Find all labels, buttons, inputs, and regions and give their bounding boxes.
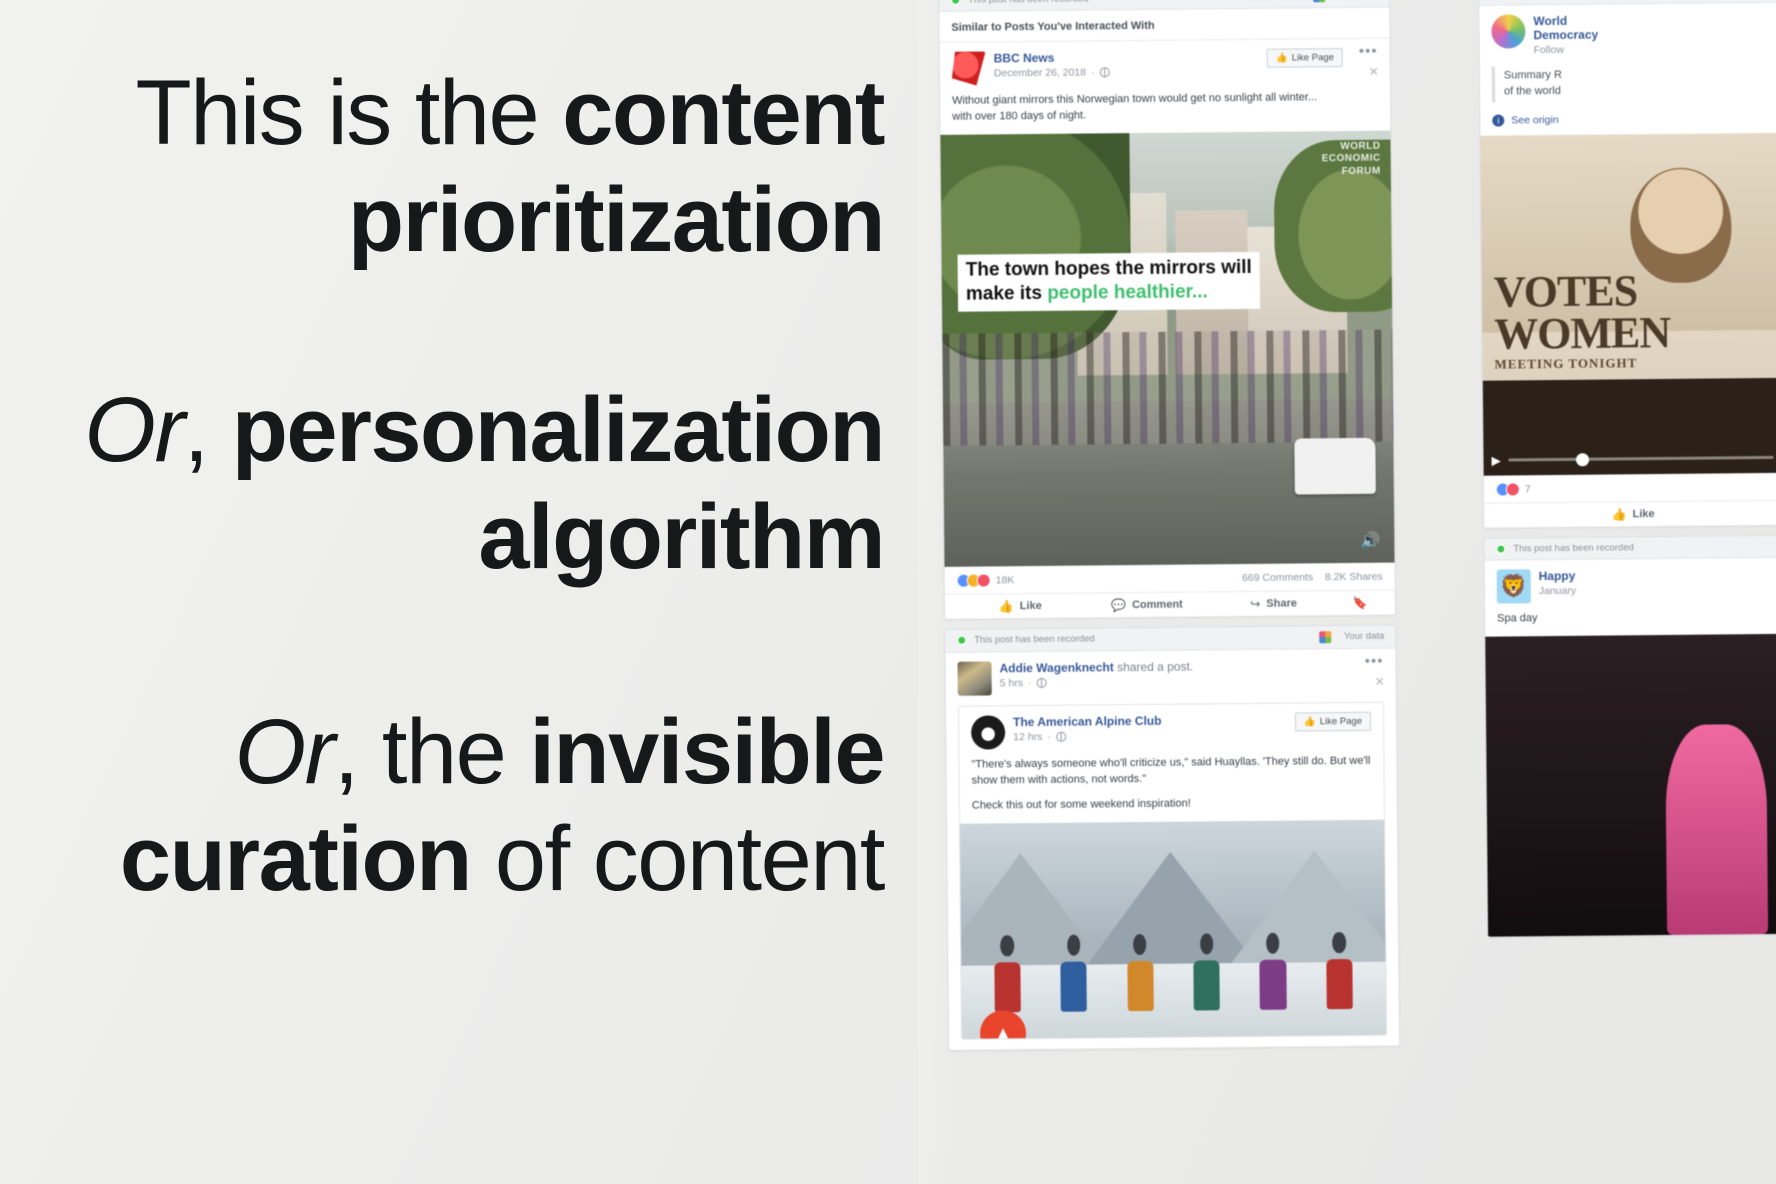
sharer-name[interactable]: Addie Wagenknecht shared a post. [999, 658, 1348, 675]
quoted-post-header: The American Alpine Club 12 hrs · 👍 Like… [959, 703, 1383, 756]
slide-canvas: This is the content prioritization Or, p… [0, 0, 1776, 1184]
share-arrow-icon: ↪ [1250, 597, 1260, 611]
quoted-post-timestamp[interactable]: 12 hrs [1013, 731, 1042, 743]
speech-bubble-icon: 💬 [1111, 598, 1126, 612]
spa-photo [1485, 634, 1776, 937]
your-data-label[interactable]: Your data [1338, 0, 1378, 2]
slide-line-1: This is the content prioritization [40, 60, 884, 273]
post-meta-happy: January [1539, 583, 1771, 597]
quoted-post-meta: 12 hrs · [1013, 728, 1287, 743]
globe-icon [1036, 678, 1046, 688]
recorded-banner-label-happy: This post has been recorded [1513, 542, 1634, 554]
feed-section-header: Similar to Posts You've Interacted With [939, 8, 1389, 43]
page-avatar-happy[interactable]: 🦁 [1497, 569, 1531, 603]
video-caption-line-2-plain: make its [966, 283, 1048, 305]
close-x-icon[interactable]: ✕ [1369, 65, 1379, 79]
like-button-label-world: Like [1632, 508, 1654, 520]
climber-4 [1186, 930, 1228, 1011]
share-button-bbc[interactable]: ↪ Share [1210, 596, 1337, 611]
post-header-happy: 🦁 Happy January [1485, 558, 1776, 610]
green-check-shield-icon [956, 635, 967, 646]
thumbs-up-icon: 👍 [999, 599, 1014, 613]
feed-side-column: This post has been recorded World Democr… [1478, 0, 1776, 947]
climbers-group [986, 906, 1360, 1013]
page-name-world-line-2[interactable]: Democracy [1533, 26, 1765, 42]
reaction-summary-bbc[interactable]: 18K [957, 573, 1015, 588]
reaction-count-world: 7 [1525, 483, 1531, 495]
post-body-bbc: Without giant mirrors this Norwegian tow… [940, 88, 1390, 135]
quote-line-3: Check this out for some weekend inspirat… [972, 795, 1372, 815]
video-frame-street-scene: WORLD ECONOMIC FORUM The town hopes the … [940, 130, 1394, 566]
post-author-block-shared: Addie Wagenknecht shared a post. 5 hrs · [999, 658, 1348, 689]
post-summary-world: Summary R of the world [1492, 64, 1766, 103]
video-controls[interactable]: ▶ [1491, 451, 1773, 468]
page-avatar-world-democracy[interactable] [1491, 14, 1525, 48]
quoted-author-block: The American Alpine Club 12 hrs · [1013, 712, 1287, 743]
page-name-bbc[interactable]: BBC News [994, 49, 1259, 66]
follow-label[interactable]: Follow [1534, 42, 1766, 56]
post-timestamp-bbc[interactable]: December 26, 2018 [994, 67, 1086, 80]
slide-line-2-light: , [184, 379, 232, 481]
video-car [1294, 437, 1376, 494]
your-data-label-2[interactable]: Your data [1344, 631, 1384, 642]
play-icon[interactable]: ▶ [1491, 453, 1500, 467]
comment-button-label: Comment [1132, 598, 1183, 610]
reaction-count-bbc: 18K [996, 574, 1015, 586]
see-original-label: See origin [1511, 114, 1558, 126]
slide-line-3: Or, the invisible curation of content [40, 699, 884, 912]
poster-subject: WOMEN [1494, 311, 1769, 355]
like-button-world[interactable]: 👍 Like [1496, 506, 1770, 523]
recorded-banner-label: This post has been recorded [968, 0, 1089, 5]
save-button-bbc[interactable]: 🔖 [1337, 596, 1383, 610]
slide-text-block: This is the content prioritization Or, p… [0, 0, 930, 1184]
post-actions-bbc: 👍 Like 💬 Comment ↪ Share 🔖 [945, 590, 1395, 618]
user-avatar-addie[interactable] [957, 661, 991, 695]
thumbs-up-icon: 👍 [1276, 53, 1288, 64]
feed-main-column: This post has been recorded Your data Si… [938, 0, 1400, 1060]
kebab-menu-icon[interactable]: ••• [1365, 658, 1384, 666]
thumbs-up-icon: 👍 [1304, 716, 1316, 727]
slide-line-3-light-a: , the [334, 701, 530, 803]
page-name-happy[interactable]: Happy [1539, 567, 1771, 583]
post-video-bbc[interactable]: WORLD ECONOMIC FORUM The town hopes the … [940, 130, 1394, 566]
video-trees-left [940, 130, 1131, 359]
climber-5 [1252, 929, 1294, 1010]
world-economic-forum-watermark: WORLD ECONOMIC FORUM [1321, 141, 1380, 179]
post-author-block: BBC News December 26, 2018 · [994, 49, 1259, 80]
share-button-label: Share [1266, 597, 1297, 609]
pinwheel-icon [1319, 631, 1331, 643]
happy-author-block: Happy January [1539, 567, 1771, 597]
like-button-bbc[interactable]: 👍 Like [957, 598, 1084, 613]
wef-line-1: WORLD [1321, 141, 1380, 154]
sharer-name-text: Addie Wagenknecht [999, 660, 1113, 675]
video-caption-overlay: The town hopes the mirrors will make its… [958, 252, 1261, 312]
climber-6 [1319, 928, 1361, 1009]
facebook-feed-screenshot: This post has been recorded Your data Si… [930, 0, 1776, 1184]
see-original-row[interactable]: i See origin [1480, 106, 1776, 136]
comment-share-counts-bbc[interactable]: 669 Comments 8.2K Shares [1242, 571, 1383, 584]
video-scrubber[interactable] [1509, 456, 1774, 462]
globe-icon [1056, 732, 1066, 742]
slide-line-1-light: This is the [135, 62, 562, 164]
quoted-post-media[interactable]: ▲ [960, 819, 1386, 1038]
like-button-label: Like [1020, 600, 1042, 612]
reaction-summary-world[interactable]: 7 [1496, 482, 1531, 496]
comment-button-bbc[interactable]: 💬 Comment [1084, 597, 1211, 612]
slide-line-3-italic: Or [235, 701, 334, 803]
slide-line-2: Or, personalization algorithm [40, 377, 884, 590]
like-page-label: Like Page [1292, 52, 1334, 63]
post-stats-bbc: 18K 669 Comments 8.2K Shares [945, 562, 1395, 594]
mountain-photo: ▲ [960, 819, 1386, 1038]
world-author-block: World Democracy Follow [1533, 12, 1765, 56]
video-caption-line-2-highlight: people healthier... [1047, 282, 1208, 305]
thumbs-up-icon: 👍 [1612, 507, 1627, 521]
post-card-happy: This post has been recorded 🦁 Happy Janu… [1483, 535, 1776, 938]
globe-icon [1100, 67, 1110, 77]
share-count-bbc[interactable]: 8.2K Shares [1325, 571, 1383, 584]
post-stats-world: 7 [1484, 473, 1776, 504]
video-crowd [942, 329, 1393, 446]
pinwheel-icon [1313, 0, 1325, 2]
climber-3 [1119, 930, 1161, 1011]
comment-count-bbc[interactable]: 669 Comments [1242, 571, 1313, 584]
post-media-happy[interactable] [1485, 634, 1776, 937]
green-check-shield-icon [950, 0, 961, 5]
page-avatar-alpine-club[interactable] [971, 715, 1005, 749]
post-actions-world: 👍 Like [1484, 501, 1776, 528]
love-reaction-icon [1506, 482, 1520, 496]
poster-sub: MEETING TONIGHT [1494, 356, 1768, 371]
bookmark-icon: 🔖 [1352, 596, 1367, 610]
kebab-menu-icon[interactable]: ••• [1359, 48, 1378, 56]
speaker-icon[interactable]: 🔊 [1360, 531, 1380, 551]
love-reaction-icon [977, 573, 991, 587]
like-page-button-bbc[interactable]: 👍 Like Page [1267, 48, 1343, 68]
post-meta-bbc: December 26, 2018 · [994, 65, 1259, 80]
slide-line-3-light-b: of content [471, 808, 884, 910]
post-body-happy: Spa day [1485, 607, 1776, 637]
post-meta-shared: 5 hrs · [1000, 674, 1349, 689]
page-name-alpine-club[interactable]: The American Alpine Club [1013, 712, 1287, 729]
quote-line-1: "There's always someone who'll criticize… [971, 755, 1308, 770]
post-body-line-2: with over 180 days of night. [952, 106, 1378, 126]
green-check-shield-icon [1495, 543, 1506, 554]
recorded-banner-label-2: This post has been recorded [974, 634, 1095, 646]
post-header-world: World Democracy Follow [1479, 3, 1776, 63]
poster-title: VOTES [1494, 269, 1769, 313]
votes-poster-frame: VOTES WOMEN MEETING TONIGHT ▶ [1480, 133, 1776, 476]
quoted-post-body: "There's always someone who'll criticize… [959, 752, 1384, 824]
post-card-bbc: This post has been recorded Your data Si… [938, 0, 1396, 620]
wef-line-2: ECONOMIC [1322, 153, 1381, 166]
spa-pink-shape [1665, 724, 1768, 935]
post-timestamp-happy[interactable]: January [1539, 585, 1576, 597]
climber-1 [987, 932, 1029, 1013]
quoted-post-alpine: The American Alpine Club 12 hrs · 👍 Like… [958, 702, 1387, 1040]
climber-2 [1053, 931, 1095, 1012]
slide-line-2-bold: personalization algorithm [232, 379, 884, 588]
recorded-banner-happy: This post has been recorded [1484, 536, 1776, 561]
page-avatar-bbc[interactable] [952, 51, 986, 85]
post-card-shared: This post has been recorded Your data Ad… [944, 624, 1400, 1050]
info-icon: i [1492, 114, 1504, 126]
post-header-bbc: BBC News December 26, 2018 · 👍 Like Page… [940, 39, 1390, 92]
video-caption-line-1: The town hopes the mirrors will [966, 256, 1252, 283]
poster-portrait [1630, 167, 1732, 284]
post-video-votes-for-women[interactable]: VOTES WOMEN MEETING TONIGHT ▶ [1480, 133, 1776, 476]
summary-line-2: of the world [1504, 82, 1766, 100]
shared-suffix: shared a post. [1114, 659, 1194, 674]
post-header-shared: Addie Wagenknecht shared a post. 5 hrs ·… [945, 648, 1395, 701]
post-timestamp-shared[interactable]: 5 hrs [1000, 677, 1023, 689]
like-page-button-alpine[interactable]: 👍 Like Page [1295, 712, 1371, 732]
poster-banner-text: VOTES WOMEN MEETING TONIGHT [1494, 269, 1769, 372]
close-x-icon[interactable]: ✕ [1375, 675, 1385, 689]
post-card-world-democracy: This post has been recorded World Democr… [1478, 0, 1776, 529]
slide-line-2-italic: Or [84, 379, 183, 481]
wef-line-3: FORUM [1322, 166, 1381, 179]
like-page-label-alpine: Like Page [1320, 716, 1362, 727]
